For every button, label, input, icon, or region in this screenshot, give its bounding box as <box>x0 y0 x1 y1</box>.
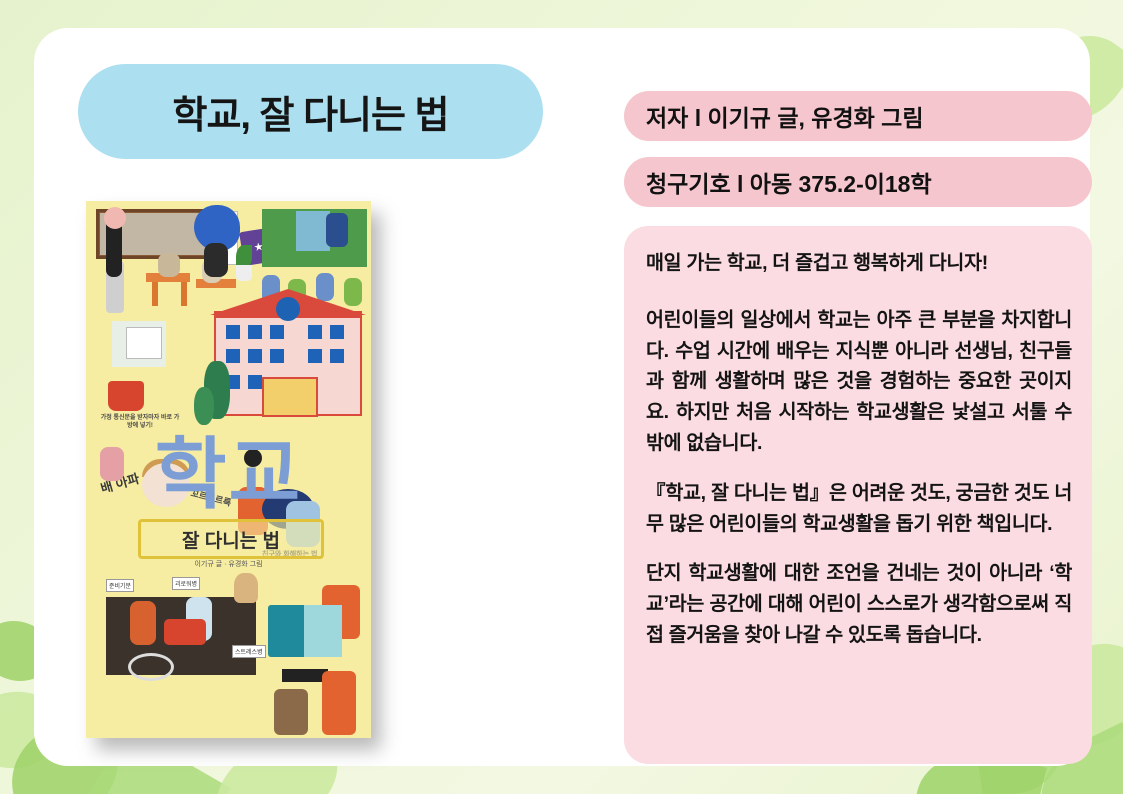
lamp-illustration <box>234 573 258 603</box>
call-number-label: 청구기호 l 아동 375.2-이18학 <box>624 165 932 199</box>
backpack-caption: 가정 통신문을 받자마자 바로 가방에 넣기! <box>100 415 180 431</box>
window-illustration <box>226 325 240 339</box>
tag-mid: 괴로워병 <box>172 577 200 590</box>
red-figure-illustration <box>322 671 356 735</box>
window-illustration <box>308 325 322 339</box>
locker-door-illustration <box>296 211 330 251</box>
window-illustration <box>330 349 344 363</box>
description-panel: 매일 가는 학교, 더 즐겁고 행복하게 다니자! 어린이들의 일상에서 학교는… <box>624 226 1092 764</box>
window-illustration <box>270 325 284 339</box>
page-title-badge: 학교, 잘 다니는 법 <box>78 64 543 159</box>
tag-left: 준비기분 <box>106 579 134 592</box>
window-illustration <box>308 349 322 363</box>
window-illustration <box>248 375 262 389</box>
cover-credit: 이기규 글 · 유경화 그림 <box>86 559 371 569</box>
open-book-right-page <box>304 605 342 657</box>
author-badge: 저자 l 이기규 글, 유경화 그림 <box>624 91 1092 141</box>
child-left-illustration <box>130 601 156 645</box>
plant-pot-illustration <box>236 265 252 281</box>
chair-illustration <box>181 282 187 306</box>
locker-figure-illustration <box>326 213 348 247</box>
teacher-head <box>104 207 126 229</box>
chair-illustration <box>152 282 158 306</box>
description-paragraph: 단지 학교생활에 대한 조언을 건네는 것이 아니라 ‘학교’라는 공간에 대해… <box>646 558 1072 650</box>
description-paragraph: 『학교, 잘 다니는 법』은 어려운 것도, 궁금한 것도 너무 많은 어린이들… <box>646 478 1072 540</box>
window-illustration <box>270 349 284 363</box>
red-bag-illustration <box>164 619 206 645</box>
cover-subtitle-banner: 잘 다니는 법 <box>138 519 324 559</box>
book-cover-art: ★자신만만 생활책★ <box>86 201 371 738</box>
call-number-badge: 청구기호 l 아동 375.2-이18학 <box>624 157 1092 207</box>
description-paragraph: 어린이들의 일상에서 학교는 아주 큰 부분을 차지합니다. 수업 시간에 배우… <box>646 305 1072 459</box>
school-crest-icon <box>276 297 300 321</box>
tree-illustration <box>194 387 214 425</box>
tag-right: 스트레스병 <box>232 645 266 658</box>
stethoscope-illustration <box>128 653 174 681</box>
window-illustration <box>330 325 344 339</box>
content-card: 학교, 잘 다니는 법 ★자신만만 생활책★ <box>34 28 1090 766</box>
page-title: 학교, 잘 다니는 법 <box>173 84 449 139</box>
description-paragraph: 매일 가는 학교, 더 즐겁고 행복하게 다니자! <box>646 248 1072 279</box>
splash-figure-illustration <box>204 243 228 277</box>
window-illustration <box>248 325 262 339</box>
scarecrow-illustration <box>274 689 308 735</box>
book-cover: ★자신만만 생활책★ <box>86 201 371 738</box>
school-entrance-illustration <box>262 377 318 417</box>
notice-paper-illustration <box>126 327 162 359</box>
window-illustration <box>248 349 262 363</box>
window-illustration <box>226 349 240 363</box>
cover-sub-title: 잘 다니는 법 <box>182 526 280 553</box>
cover-main-title: 학교 <box>86 437 371 511</box>
student-illustration <box>158 253 180 277</box>
author-label: 저자 l 이기규 글, 유경화 그림 <box>624 99 924 133</box>
backpack-illustration <box>108 381 144 411</box>
cover-title-block: 학교 <box>86 437 371 511</box>
